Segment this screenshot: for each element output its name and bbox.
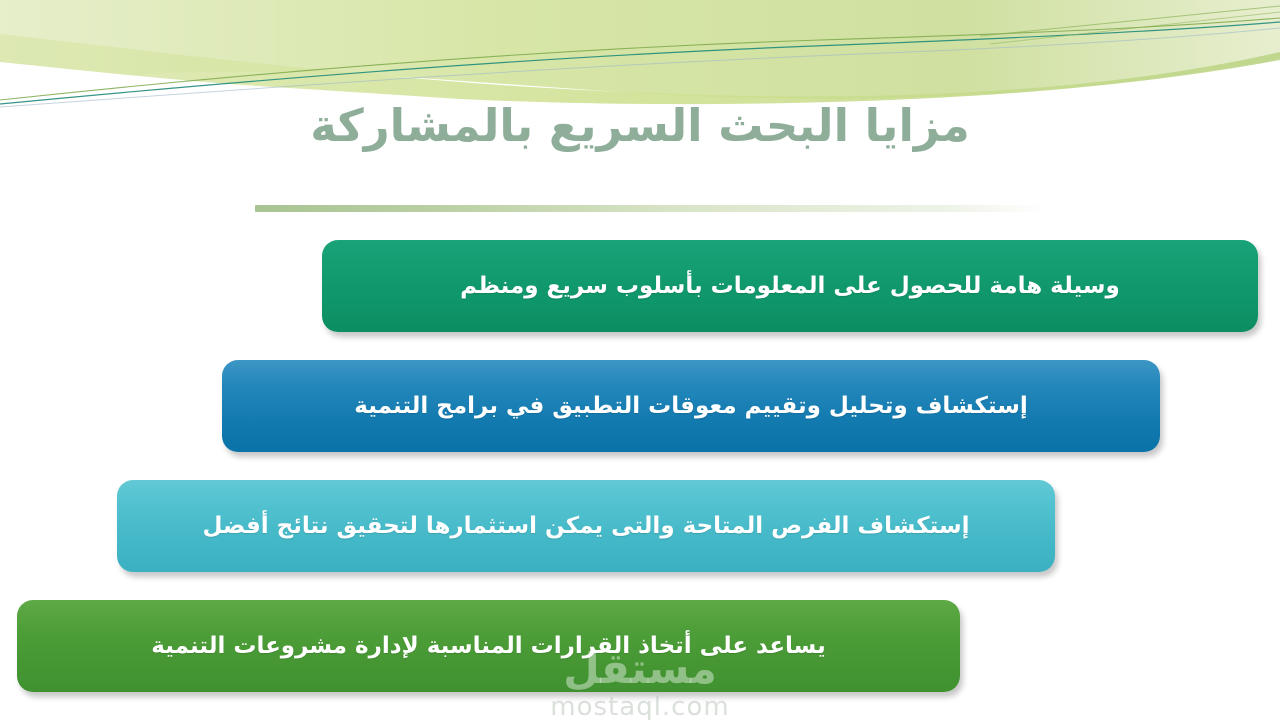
benefit-bar-4[interactable]: يساعد على أتخاذ القرارات المناسبة لإدارة… — [17, 600, 960, 692]
benefit-bars-list: وسيلة هامة للحصول على المعلومات بأسلوب س… — [0, 0, 1280, 720]
benefit-bar-3-text: إستكشاف الفرص المتاحة والتى يمكن استثمار… — [203, 512, 970, 541]
benefit-bar-4-text: يساعد على أتخاذ القرارات المناسبة لإدارة… — [151, 632, 825, 661]
benefit-bar-3[interactable]: إستكشاف الفرص المتاحة والتى يمكن استثمار… — [117, 480, 1055, 572]
benefit-bar-2-text: إستكشاف وتحليل وتقييم معوقات التطبيق في … — [354, 392, 1028, 421]
benefit-bar-2[interactable]: إستكشاف وتحليل وتقييم معوقات التطبيق في … — [222, 360, 1160, 452]
slide-canvas: مزايا البحث السريع بالمشاركة وسيلة هامة … — [0, 0, 1280, 720]
benefit-bar-1[interactable]: وسيلة هامة للحصول على المعلومات بأسلوب س… — [322, 240, 1258, 332]
benefit-bar-1-text: وسيلة هامة للحصول على المعلومات بأسلوب س… — [460, 272, 1120, 301]
